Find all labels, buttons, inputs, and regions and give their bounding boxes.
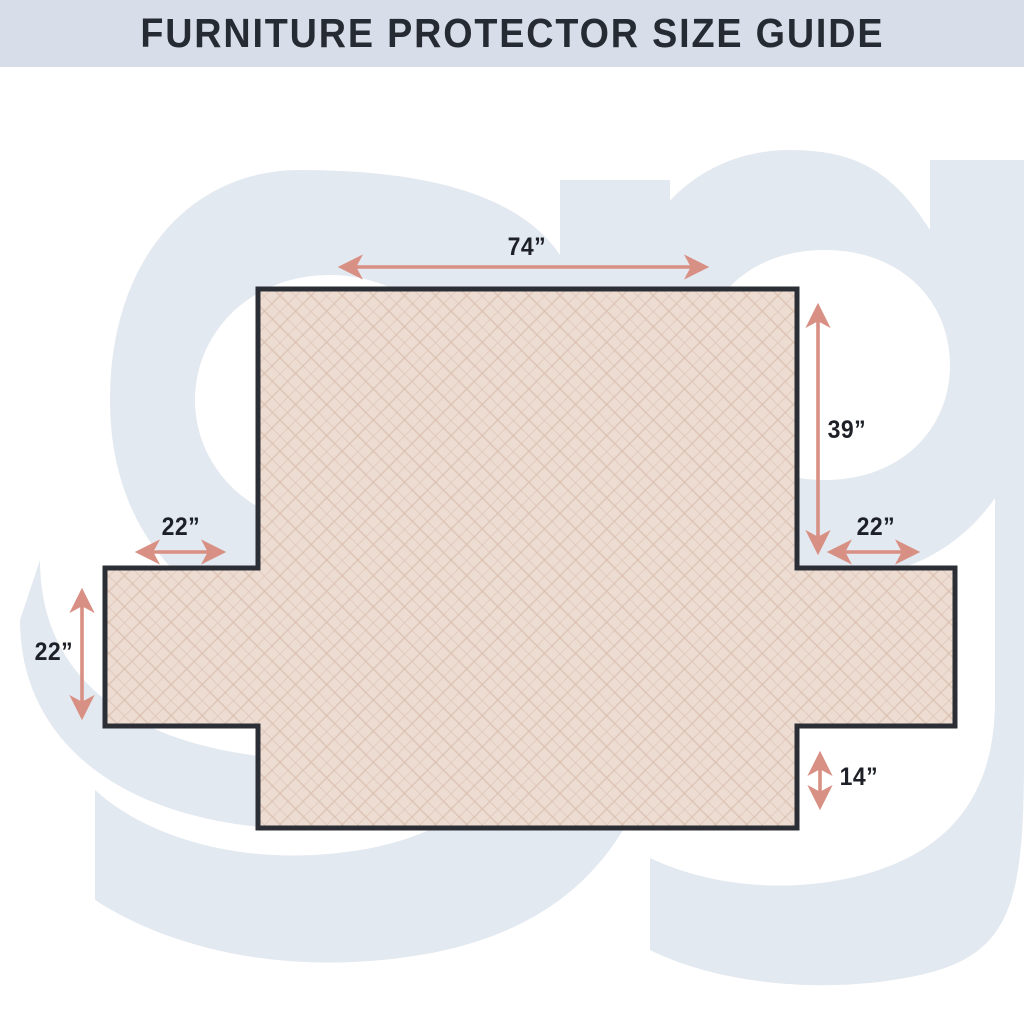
protector-outline (105, 289, 955, 828)
page-title: FURNITURE PROTECTOR SIZE GUIDE (140, 10, 884, 57)
protector-shape-diagram (0, 0, 1024, 1024)
header-band: FURNITURE PROTECTOR SIZE GUIDE (0, 0, 1024, 67)
size-guide-canvas: FURNITURE PROTECTOR SIZE GUIDE BACK FOLD… (0, 0, 1024, 1024)
